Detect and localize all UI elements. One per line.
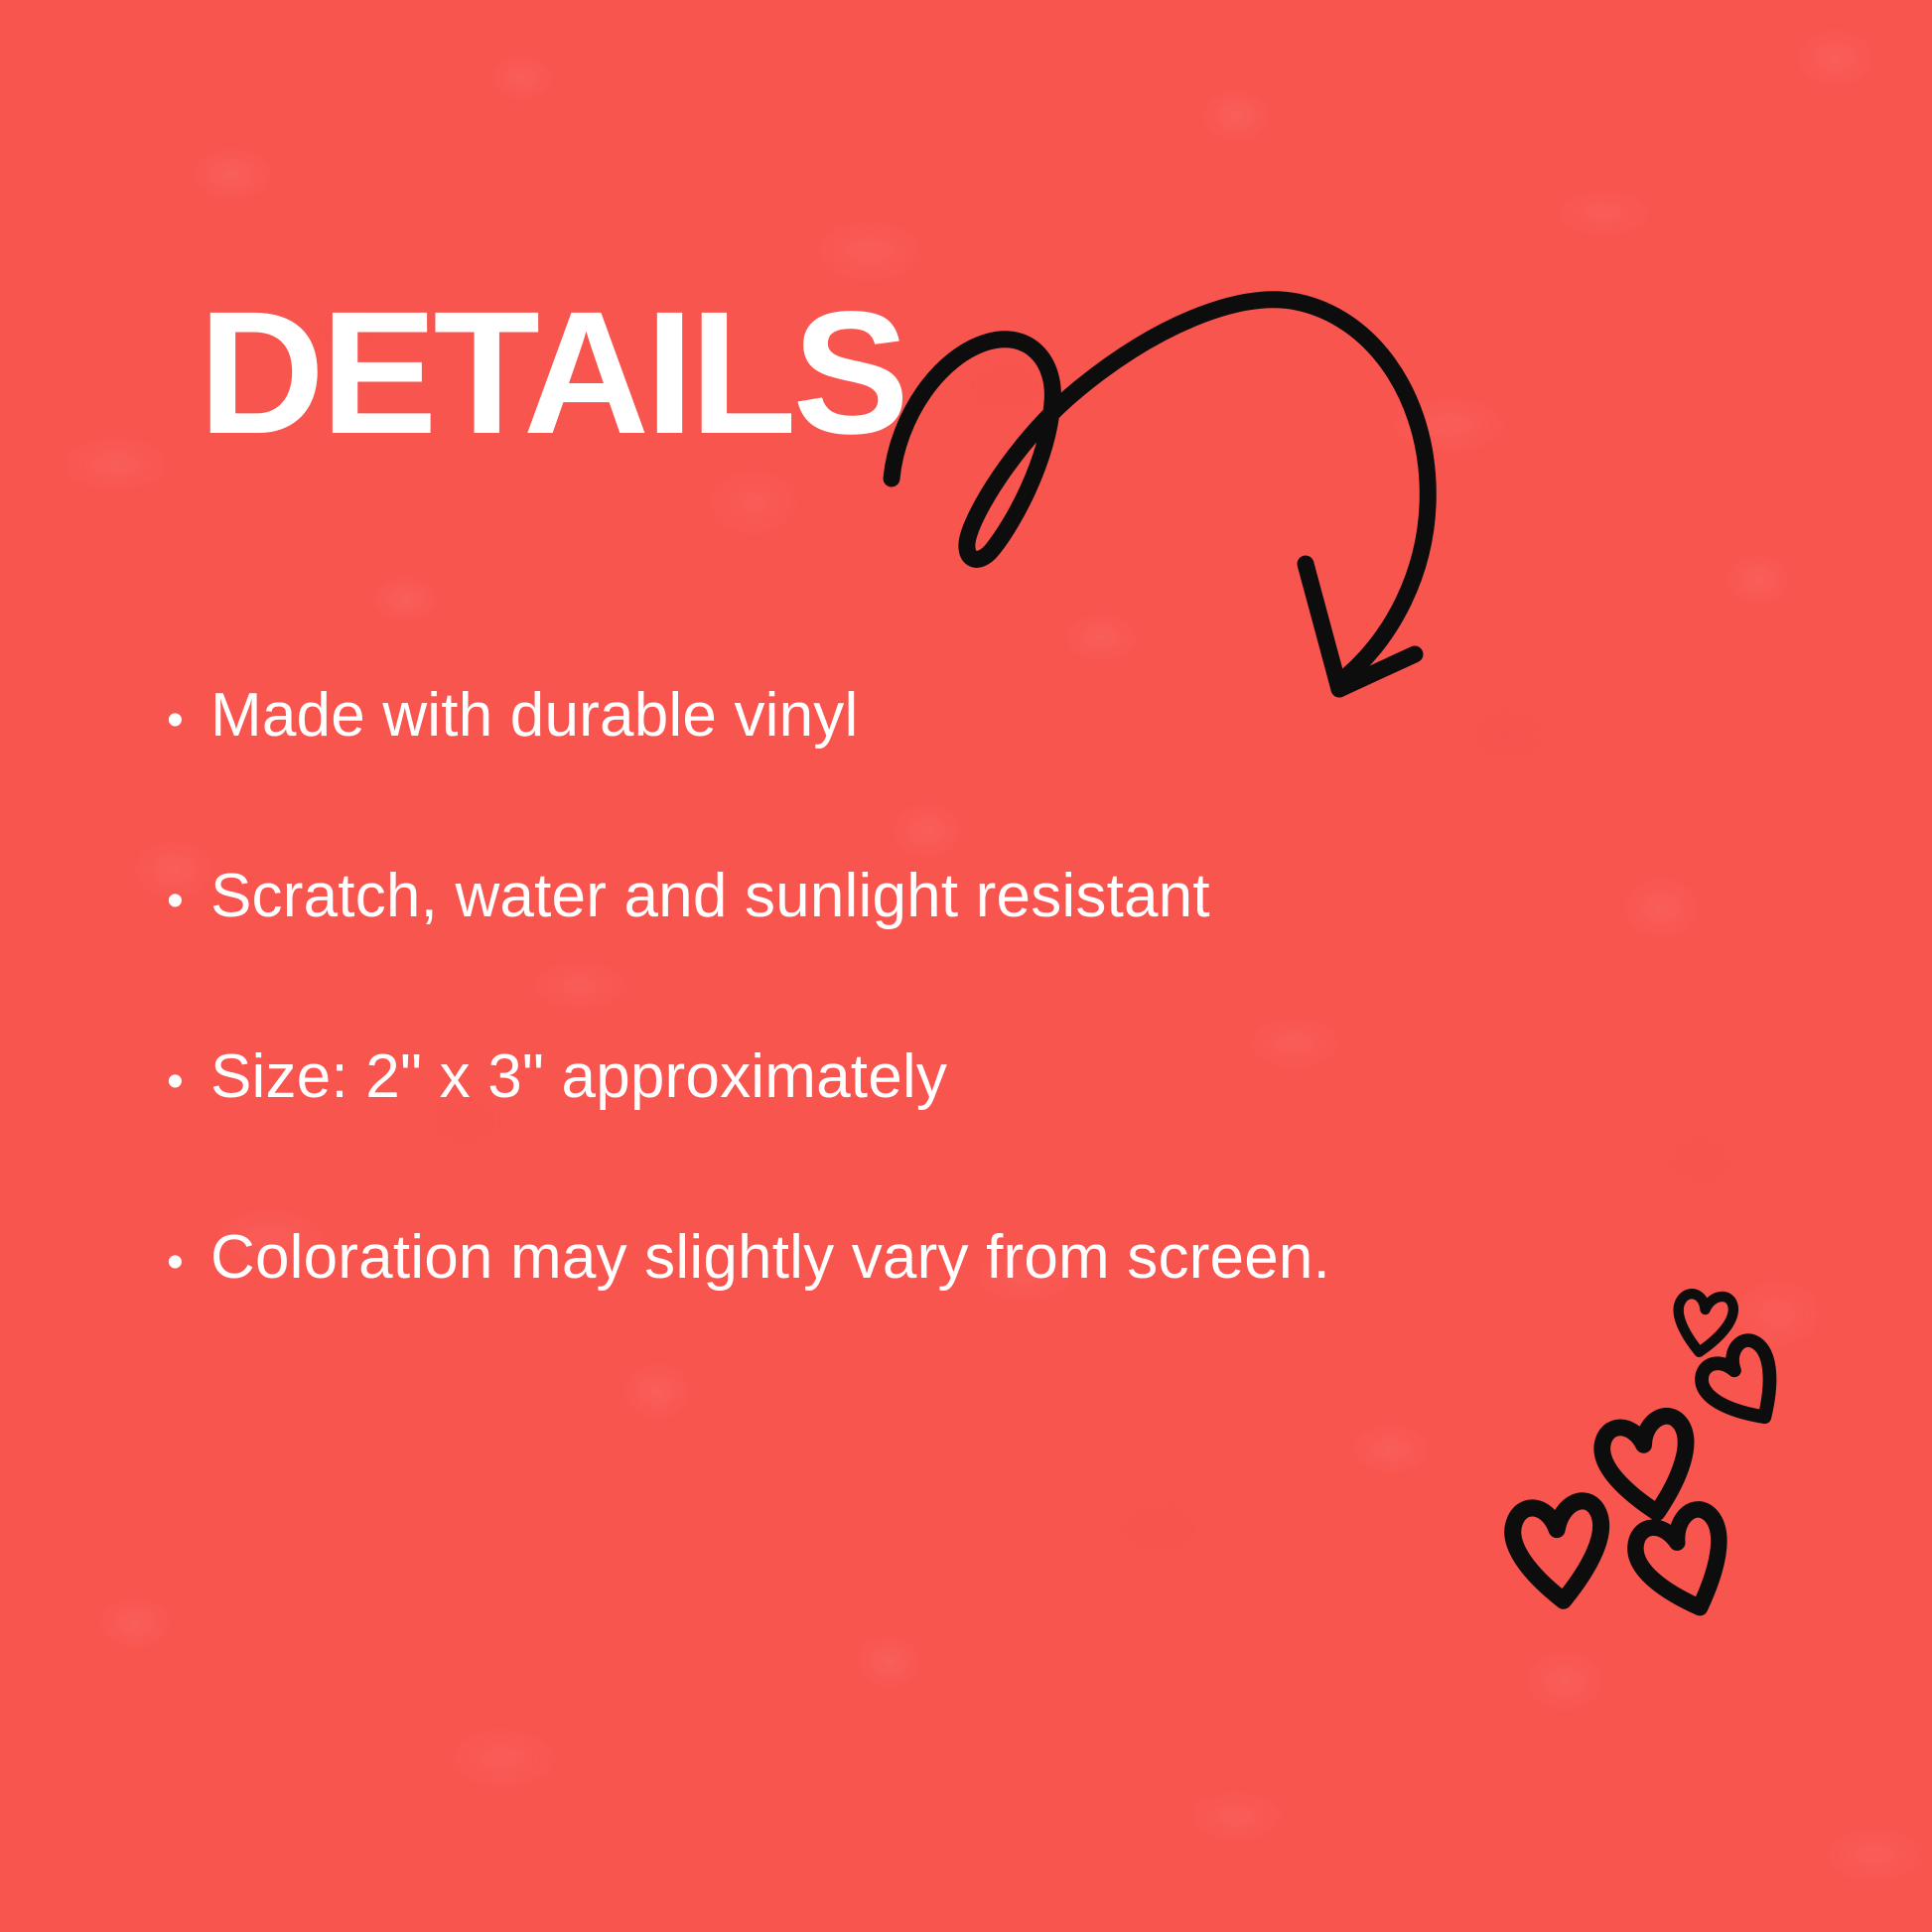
details-bullet-list: • Made with durable vinyl • Scratch, wat… [167, 685, 1755, 1408]
heart-icon [1597, 1412, 1702, 1522]
list-item: • Made with durable vinyl [167, 685, 1755, 866]
details-card: DETAILS • Made with durable vinyl • Scra… [0, 0, 1932, 1932]
list-item: • Coloration may slightly vary from scre… [167, 1227, 1755, 1408]
page-title: DETAILS [199, 244, 894, 473]
page-title-text: DETAILS [199, 276, 905, 471]
bullet-marker-icon: • [167, 1058, 210, 1106]
list-item-label: Coloration may slightly vary from screen… [210, 1227, 1330, 1289]
list-item-label: Made with durable vinyl [210, 685, 858, 747]
heart-icon [1509, 1498, 1610, 1605]
list-item: • Scratch, water and sunlight resistant [167, 866, 1755, 1046]
bullet-marker-icon: • [167, 1239, 210, 1287]
bullet-marker-icon: • [167, 878, 210, 925]
list-item-label: Size: 2" x 3" approximately [210, 1046, 947, 1108]
list-item: • Size: 2" x 3" approximately [167, 1046, 1755, 1227]
curly-arrow-icon [854, 268, 1489, 725]
list-item-label: Scratch, water and sunlight resistant [210, 866, 1210, 927]
bullet-marker-icon: • [167, 697, 210, 745]
heart-icon [1628, 1504, 1742, 1622]
